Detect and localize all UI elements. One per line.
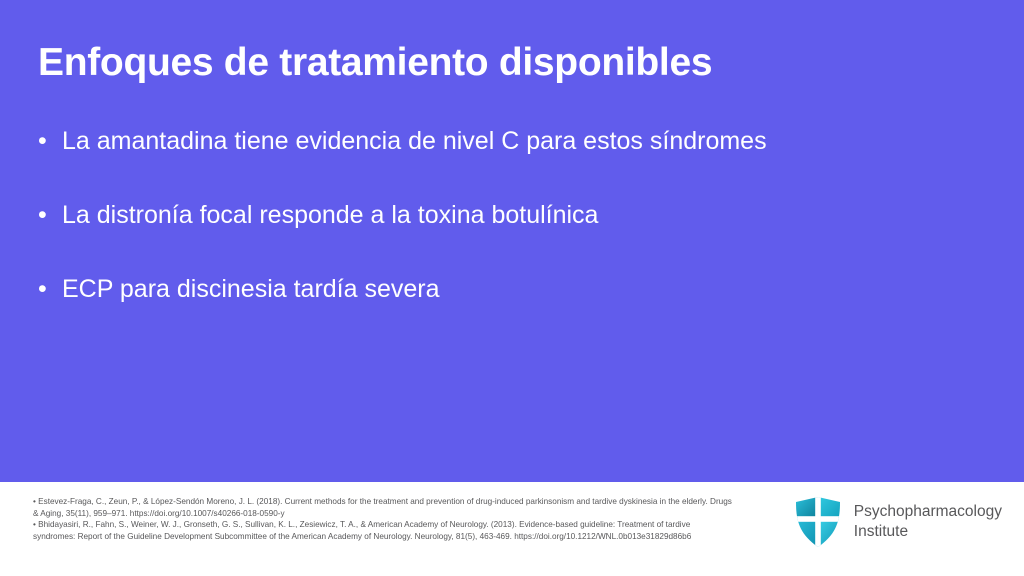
reference-item: • Bhidayasiri, R., Fahn, S., Weiner, W. … xyxy=(33,519,733,542)
list-item: • La distronía focal responde a la toxin… xyxy=(38,198,978,232)
bullet-text: La amantadina tiene evidencia de nivel C… xyxy=(62,124,978,158)
brand-name-line1: Psychopharmacology xyxy=(854,502,1002,522)
brand-logo: Psychopharmacology Institute xyxy=(795,496,1002,548)
page-title: Enfoques de tratamiento disponibles xyxy=(38,41,712,85)
bullet-list: • La amantadina tiene evidencia de nivel… xyxy=(38,124,978,346)
shield-icon xyxy=(795,496,841,548)
references-block: • Estevez-Fraga, C., Zeun, P., & López-S… xyxy=(33,496,733,542)
bullet-dot-icon: • xyxy=(38,272,62,306)
brand-name: Psychopharmacology Institute xyxy=(854,502,1002,542)
bullet-text: ECP para discinesia tardía severa xyxy=(62,272,978,306)
bullet-text: La distronía focal responde a la toxina … xyxy=(62,198,978,232)
reference-item: • Estevez-Fraga, C., Zeun, P., & López-S… xyxy=(33,496,733,519)
bullet-dot-icon: • xyxy=(38,124,62,158)
slide-footer: • Estevez-Fraga, C., Zeun, P., & López-S… xyxy=(0,482,1024,576)
bullet-dot-icon: • xyxy=(38,198,62,232)
slide: Enfoques de tratamiento disponibles • La… xyxy=(0,0,1024,576)
brand-name-line2: Institute xyxy=(854,522,1002,542)
list-item: • ECP para discinesia tardía severa xyxy=(38,272,978,306)
slide-content-area: Enfoques de tratamiento disponibles • La… xyxy=(0,0,1024,482)
list-item: • La amantadina tiene evidencia de nivel… xyxy=(38,124,978,158)
